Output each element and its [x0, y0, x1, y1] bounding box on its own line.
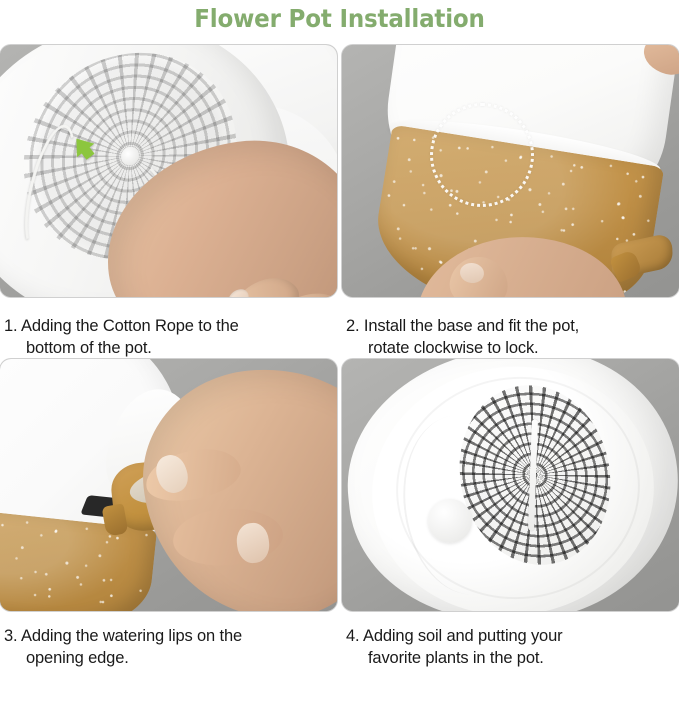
step-1-photo — [0, 45, 337, 297]
step-4: 4. Adding soil and putting your favorite… — [342, 359, 679, 669]
step-text-line-1: Adding the Cotton Rope to the — [21, 317, 239, 335]
step-text-line-2: rotate clockwise to lock. — [346, 337, 673, 359]
step-2-photo — [342, 45, 679, 297]
step-3-photo — [0, 359, 337, 611]
steps-grid: 1. Adding the Cotton Rope to the bottom … — [0, 45, 679, 669]
step-text-line-1: Install the base and fit the pot, — [364, 317, 579, 335]
step-number: 4. — [346, 627, 359, 645]
page-title: Flower Pot Installation — [27, 2, 652, 36]
pot-inner-knob — [428, 499, 472, 543]
instruction-sheet: Flower Pot Installation — [0, 0, 679, 701]
drainage-grid — [454, 385, 617, 565]
step-text-line-1: Adding the watering lips on the — [21, 627, 242, 645]
step-text-line-1: Adding soil and putting your — [363, 627, 562, 645]
step-text-line-2: favorite plants in the pot. — [346, 647, 673, 669]
step-1-caption: 1. Adding the Cotton Rope to the bottom … — [0, 297, 337, 359]
step-2-caption: 2. Install the base and fit the pot, rot… — [342, 297, 679, 359]
step-number: 1. — [4, 317, 17, 335]
step-1: 1. Adding the Cotton Rope to the bottom … — [0, 45, 337, 359]
step-text-line-2: bottom of the pot. — [4, 337, 331, 359]
step-3: 3. Adding the watering lips on the openi… — [0, 359, 337, 669]
step-2: 2. Install the base and fit the pot, rot… — [342, 45, 679, 359]
step-number: 2. — [346, 317, 359, 335]
step-4-caption: 4. Adding soil and putting your favorite… — [342, 611, 679, 669]
step-number: 3. — [4, 627, 17, 645]
step-4-photo — [342, 359, 679, 611]
step-3-caption: 3. Adding the watering lips on the openi… — [0, 611, 337, 669]
step-text-line-2: opening edge. — [4, 647, 331, 669]
dotted-circle-annotation — [430, 103, 534, 207]
